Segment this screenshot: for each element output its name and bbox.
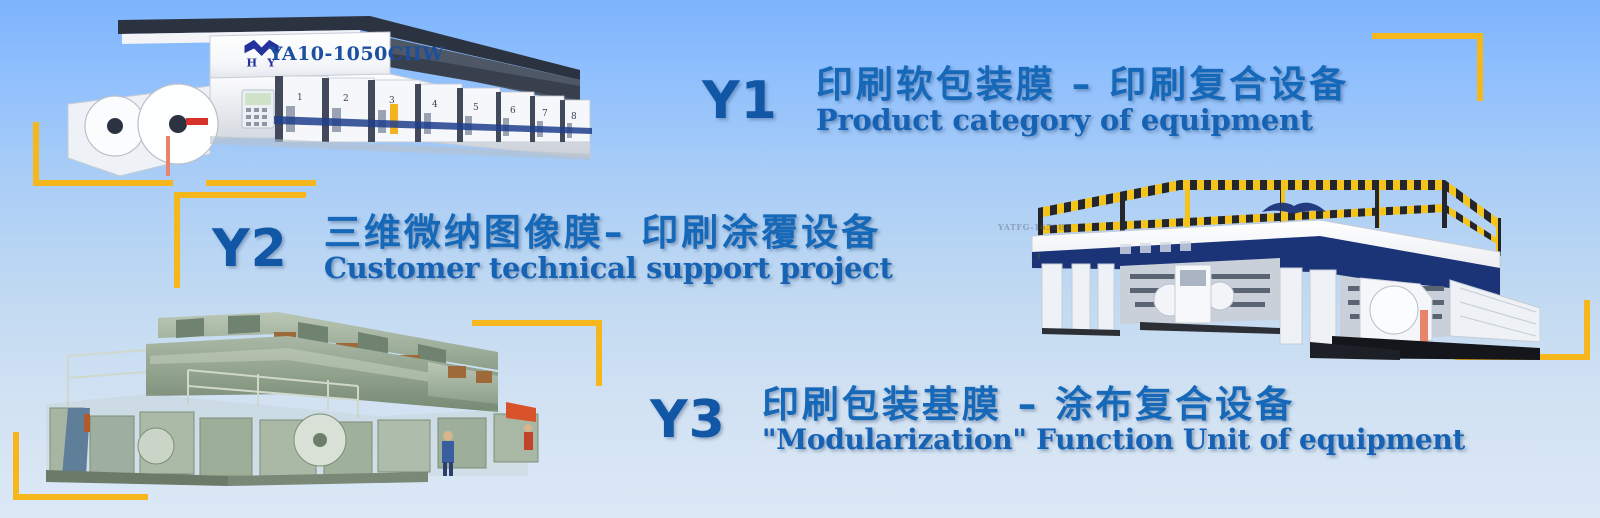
machine-model-label-ya10: YA10-1050CIIW <box>269 43 444 65</box>
label-cn-y2: 三维微纳图像膜– 印刷涂覆设备 <box>324 212 893 253</box>
coating-laminating-illustration <box>980 160 1540 360</box>
machine-base-film-coating-line <box>28 300 573 495</box>
label-en-y2: Customer technical support project <box>324 253 893 285</box>
machine-model-label-yatfg: YATFG-1650BⅡ <box>998 222 1073 232</box>
svg-text:5: 5 <box>473 103 479 113</box>
label-code-y2: Y2 <box>212 223 288 275</box>
bracket-y2-vertical <box>174 192 180 288</box>
label-en-y1: Product category of equipment <box>816 105 1349 137</box>
svg-text:1: 1 <box>297 93 303 103</box>
bracket-y2-horizontal <box>174 192 306 198</box>
text-block-y3: Y3 印刷包装基膜 – 涂布复合设备 "Modularization" Func… <box>650 384 1465 456</box>
text-block-y2: Y2 三维微纳图像膜– 印刷涂覆设备 Customer technical su… <box>212 212 893 285</box>
svg-text:4: 4 <box>432 100 438 110</box>
bracket-mid-vertical <box>596 320 602 386</box>
bracket-bottom-left-vertical <box>13 432 19 500</box>
bracket-top-left-vertical <box>33 122 39 186</box>
machine-rotogravure-printing-press: H Y <box>60 8 600 178</box>
svg-text:8: 8 <box>571 112 577 122</box>
base-film-line-illustration <box>28 300 573 495</box>
label-code-y3: Y3 <box>650 394 726 446</box>
text-block-y1: Y1 印刷软包装膜 – 印刷复合设备 Product category of e… <box>702 64 1349 137</box>
label-code-y1: Y1 <box>702 75 778 127</box>
label-cn-y1: 印刷软包装膜 – 印刷复合设备 <box>816 64 1349 105</box>
bracket-top-left-horizontal <box>33 180 173 186</box>
bracket-top-right-vertical <box>1477 33 1483 101</box>
label-en-y3: "Modularization" Function Unit of equipm… <box>762 425 1465 456</box>
bracket-top-left-horizontal-2 <box>206 180 316 186</box>
svg-text:H: H <box>246 56 257 70</box>
worker-figure-2 <box>524 424 533 450</box>
bracket-right-vertical <box>1584 300 1590 360</box>
label-cn-y3: 印刷包装基膜 – 涂布复合设备 <box>762 384 1465 425</box>
svg-text:2: 2 <box>343 94 349 104</box>
product-banner: H Y <box>0 0 1600 518</box>
bracket-top-right-horizontal <box>1372 33 1482 39</box>
svg-text:7: 7 <box>542 109 548 119</box>
machine-coating-laminating: YATFG-1650BⅡ <box>980 160 1540 360</box>
printing-press-illustration: H Y <box>60 8 600 178</box>
svg-text:6: 6 <box>510 106 516 116</box>
